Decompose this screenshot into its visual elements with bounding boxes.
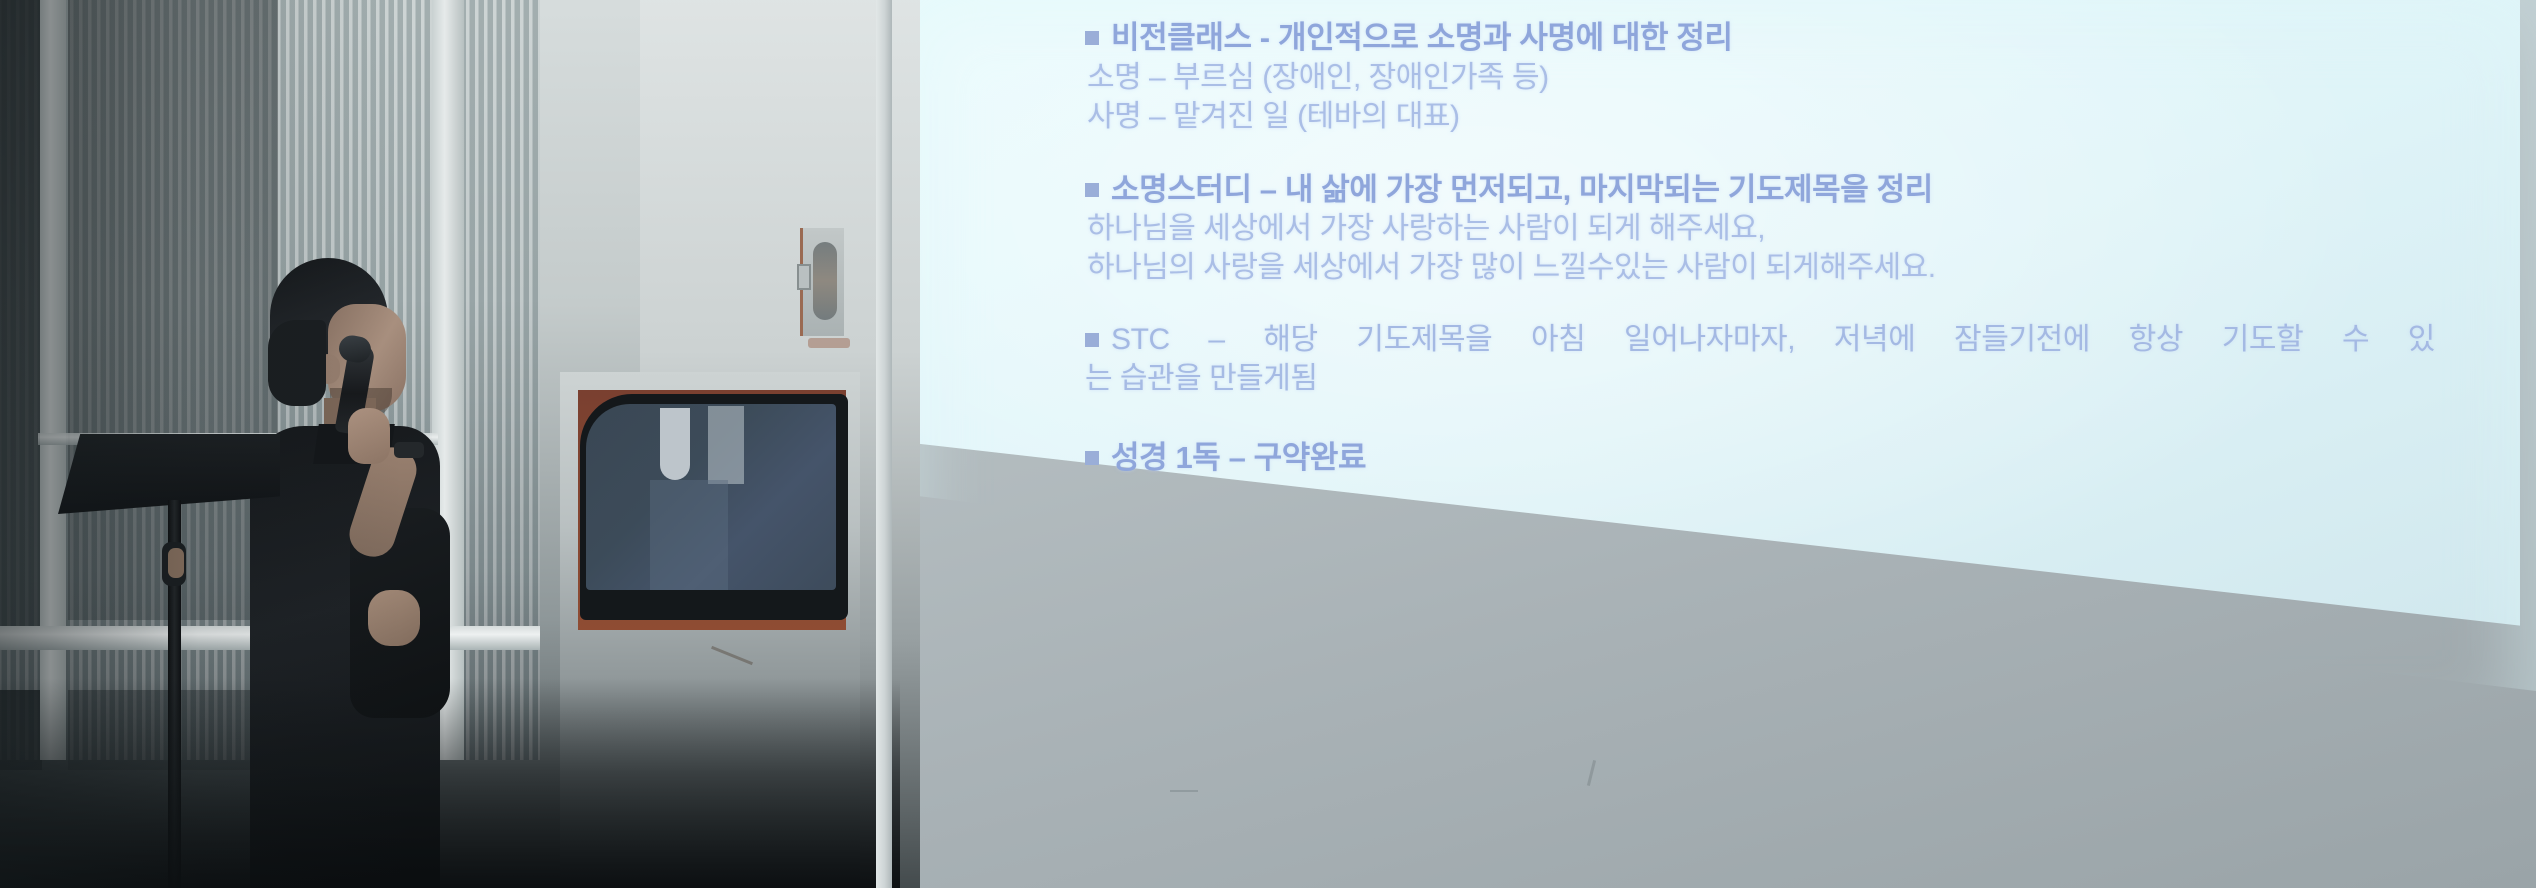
slide-subline: 하나님의 사랑을 세상에서 가장 많이 느낄수있는 사람이 되게해주세요. bbox=[1087, 248, 2485, 287]
slide-heading: 성경 1독 – 구약완료 bbox=[1085, 438, 2485, 478]
square-bullet-icon bbox=[1085, 451, 1099, 465]
slide-subline: 소명 – 부르심 (장애인, 장애인가족 등) bbox=[1087, 58, 2485, 97]
slide-heading-text: 비전클래스 - 개인적으로 소명과 사명에 대한 정리 bbox=[1111, 18, 1733, 58]
slide-block-vision-class: 비전클래스 - 개인적으로 소명과 사명에 대한 정리 소명 – 부르심 (장애… bbox=[1085, 18, 2485, 136]
presentation-photo-scene: 비전클래스 - 개인적으로 소명과 사명에 대한 정리 소명 – 부르심 (장애… bbox=[0, 0, 2536, 888]
slide-block-bible-reading: 성경 1독 – 구약완료 bbox=[1085, 438, 2485, 478]
slide-heading-text: 소명스터디 – 내 삶에 가장 먼저되고, 마지막되는 기도제목을 정리 bbox=[1111, 170, 1933, 210]
slide-heading-text: STC – 해당 기도제목을 아침 일어나자마자, 저녁에 잠들기전에 항상 기… bbox=[1111, 321, 2435, 359]
left-room-wall bbox=[0, 0, 900, 888]
slide-heading-text: 성경 1독 – 구약완료 bbox=[1111, 438, 1366, 478]
slide-block-calling-study: 소명스터디 – 내 삶에 가장 먼저되고, 마지막되는 기도제목을 정리 하나님… bbox=[1085, 170, 2485, 288]
slide-block-stc: STC – 해당 기도제목을 아침 일어나자마자, 저녁에 잠들기전에 항상 기… bbox=[1085, 321, 2485, 398]
wall-corner-edge bbox=[876, 0, 892, 888]
slide-subline: 하나님을 세상에서 가장 사랑하는 사람이 되게 해주세요, bbox=[1087, 209, 2485, 248]
slide-heading: 소명스터디 – 내 삶에 가장 먼저되고, 마지막되는 기도제목을 정리 bbox=[1085, 170, 2485, 210]
slide-subline: 사명 – 맡겨진 일 (테바의 대표) bbox=[1087, 97, 2485, 136]
slide-content: 비전클래스 - 개인적으로 소명과 사명에 대한 정리 소명 – 부르심 (장애… bbox=[1085, 18, 2485, 512]
wall-scuff-mark bbox=[1170, 790, 1198, 792]
slide-heading: STC – 해당 기도제목을 아침 일어나자마자, 저녁에 잠들기전에 항상 기… bbox=[1085, 321, 2435, 359]
left-room-shading bbox=[0, 0, 900, 888]
slide-subline: 는 습관을 만들게됨 bbox=[1085, 359, 2485, 398]
slide-heading: 비전클래스 - 개인적으로 소명과 사명에 대한 정리 bbox=[1085, 18, 2485, 58]
square-bullet-icon bbox=[1085, 333, 1099, 347]
square-bullet-icon bbox=[1085, 31, 1099, 45]
square-bullet-icon bbox=[1085, 183, 1099, 197]
